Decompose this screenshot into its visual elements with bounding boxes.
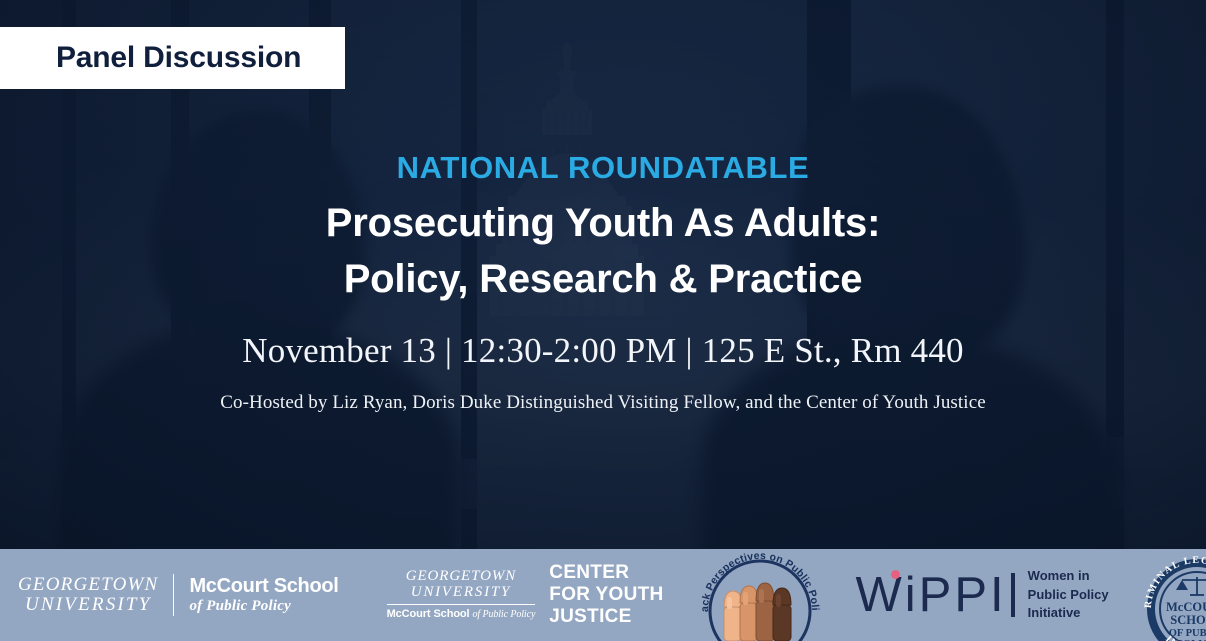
clpi-inner-line-1: McCOURT: [1166, 600, 1206, 614]
wippi-fullname-line-1: Women in: [1028, 567, 1109, 586]
raised-fists-icon: [724, 583, 791, 641]
event-eyebrow: NATIONAL ROUNDATABLE: [0, 150, 1206, 186]
event-cohost-line: Co-Hosted by Liz Ryan, Doris Duke Distin…: [0, 392, 1206, 414]
logo-divider: [173, 574, 174, 616]
mccourt-school-line: McCourt School: [189, 576, 338, 598]
logo-georgetown-mccourt: GEORGETOWN UNIVERSITY McCourt School of …: [18, 574, 339, 616]
panel-discussion-label: Panel Discussion: [56, 41, 301, 75]
event-title-line-2: Policy, Research & Practice: [0, 251, 1206, 308]
wippi-fullname-line-2: Public Policy: [1028, 586, 1109, 605]
georgetown-wordmark: GEORGETOWN UNIVERSITY: [18, 575, 158, 615]
bppp-emblem: Black Perspectives on Public Policy: [694, 549, 826, 641]
event-datetime-location: November 13 | 12:30-2:00 PM | 125 E St.,…: [0, 331, 1206, 371]
cyj-divider: [387, 604, 536, 605]
clpi-inner-line-3: OF PUBLIC: [1168, 628, 1206, 639]
wippi-wordmark: WiPPI: [856, 571, 1007, 620]
cyj-name-line-3: JUSTICE: [549, 606, 663, 628]
cyj-georgetown-wordmark: GEORGETOWN UNIVERSITY McCourt School of …: [387, 569, 536, 621]
logo-criminal-legal-policy-initiative: CRIMINAL LEGAL POLICY INITIATIVE McCOURT…: [1137, 549, 1206, 641]
wippi-divider: [1011, 573, 1015, 617]
panel-discussion-banner: Panel Discussion: [0, 27, 345, 89]
cyj-georgetown-line-1: GEORGETOWN: [387, 569, 536, 585]
event-title: Prosecuting Youth As Adults: Policy, Res…: [0, 195, 1206, 309]
wippi-fullname: Women in Public Policy Initiative: [1028, 567, 1109, 624]
georgetown-line-2: UNIVERSITY: [18, 595, 158, 615]
mccourt-policy-line: of Public Policy: [189, 598, 338, 615]
logo-wippi: WiPPI Women in Public Policy Initiative: [856, 567, 1109, 624]
cyj-name: CENTER FOR YOUTH JUSTICE: [549, 562, 663, 628]
cyj-mccourt-line: McCourt School of Public Policy: [387, 608, 536, 621]
wippi-fullname-line-3: Initiative: [1028, 604, 1109, 623]
scales-of-justice-icon: [1176, 577, 1206, 595]
event-title-line-1: Prosecuting Youth As Adults:: [0, 195, 1206, 252]
cyj-name-line-1: CENTER: [549, 562, 663, 584]
sponsor-logo-bar: GEORGETOWN UNIVERSITY McCourt School of …: [0, 549, 1206, 641]
cyj-name-line-2: FOR YOUTH: [549, 584, 663, 606]
cyj-mccourt-italic: of Public Policy: [472, 609, 535, 620]
mccourt-wordmark: McCourt School of Public Policy: [189, 576, 338, 614]
logo-center-for-youth-justice: GEORGETOWN UNIVERSITY McCourt School of …: [387, 562, 664, 628]
wippi-accent-dot: [891, 570, 900, 579]
logo-black-perspectives-on-public-policy: Black Perspectives on Public Policy: [694, 549, 826, 641]
cyj-georgetown-line-2: UNIVERSITY: [387, 585, 536, 601]
clpi-seal: CRIMINAL LEGAL POLICY INITIATIVE McCOURT…: [1137, 551, 1206, 641]
clpi-inner-line-2: SCHOOL: [1170, 613, 1206, 627]
georgetown-line-1: GEORGETOWN: [18, 575, 158, 595]
event-flyer: Panel Discussion NATIONAL ROUNDATABLE Pr…: [0, 0, 1206, 641]
event-content: NATIONAL ROUNDATABLE Prosecuting Youth A…: [0, 150, 1206, 414]
cyj-mccourt-bold: McCourt School: [387, 608, 473, 620]
